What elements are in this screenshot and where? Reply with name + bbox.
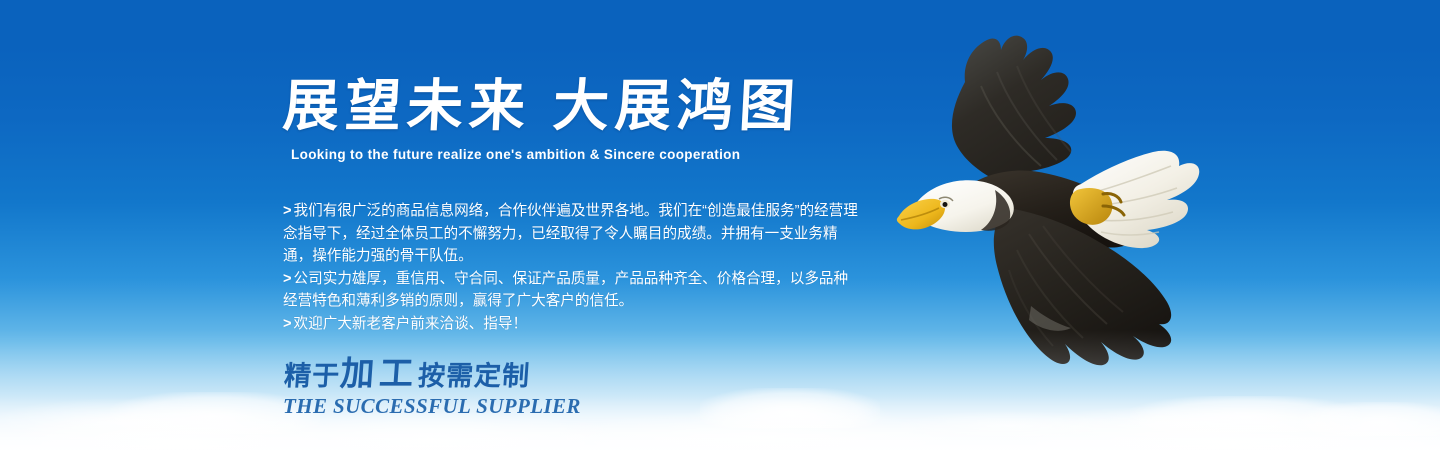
headline: 展望未来大展鸿图 xyxy=(281,76,802,138)
eagle-body xyxy=(957,171,1137,248)
body-paragraph-3: >欢迎广大新老客户前来洽谈、指导！ xyxy=(283,313,859,336)
body-paragraph-2-text: 公司实力雄厚，重信用、守合同、保证产品质量，产品品种齐全、价格合理，以多品种经营… xyxy=(283,271,848,310)
tagline-emphasis: 加工 xyxy=(339,356,420,393)
body-paragraph-1: >我们有很广泛的商品信息网络，合作伙伴遍及世界各地。我们在“创造最佳服务”的经营… xyxy=(283,200,859,268)
bullet-marker-1: > xyxy=(283,203,292,219)
cloud-puff-right xyxy=(1130,396,1360,432)
body-paragraph-3-text: 欢迎广大新老客户前来洽谈、指导！ xyxy=(294,316,528,332)
headline-subtitle: Looking to the future realize one's ambi… xyxy=(291,147,740,162)
tagline-chinese: 精于加工按需定制 xyxy=(283,358,685,393)
bald-eagle-image xyxy=(845,0,1275,394)
headline-part-2: 大展鸿图 xyxy=(551,76,802,138)
body-paragraph-1-text: 我们有很广泛的商品信息网络，合作伙伴遍及世界各地。我们在“创造最佳服务”的经营理… xyxy=(283,203,858,264)
tagline-english: THE SUCCESSFUL SUPPLIER xyxy=(283,394,683,419)
eagle-lower-wing xyxy=(994,208,1171,365)
headline-part-1: 展望未来 xyxy=(281,76,532,138)
tagline-block: 精于加工按需定制 THE SUCCESSFUL SUPPLIER xyxy=(283,358,683,419)
eagle-talons xyxy=(1070,188,1112,225)
cloud-puff-far-right xyxy=(1300,402,1440,436)
eagle-upper-wing xyxy=(952,36,1095,262)
body-paragraph-2: >公司实力雄厚，重信用、守合同、保证产品质量，产品品种齐全、价格合理，以多品种经… xyxy=(283,268,859,313)
bullet-marker-3: > xyxy=(283,316,292,332)
tagline-suffix: 按需定制 xyxy=(417,361,531,391)
eagle-tail xyxy=(1073,151,1199,248)
hero-banner: 展望未来大展鸿图 Looking to the future realize o… xyxy=(0,0,1440,450)
eagle-head xyxy=(913,180,1014,232)
tagline-prefix: 精于 xyxy=(283,361,341,391)
body-copy: >我们有很广泛的商品信息网络，合作伙伴遍及世界各地。我们在“创造最佳服务”的经营… xyxy=(283,200,859,335)
bullet-marker-2: > xyxy=(283,271,292,287)
eagle-beak xyxy=(897,199,945,230)
